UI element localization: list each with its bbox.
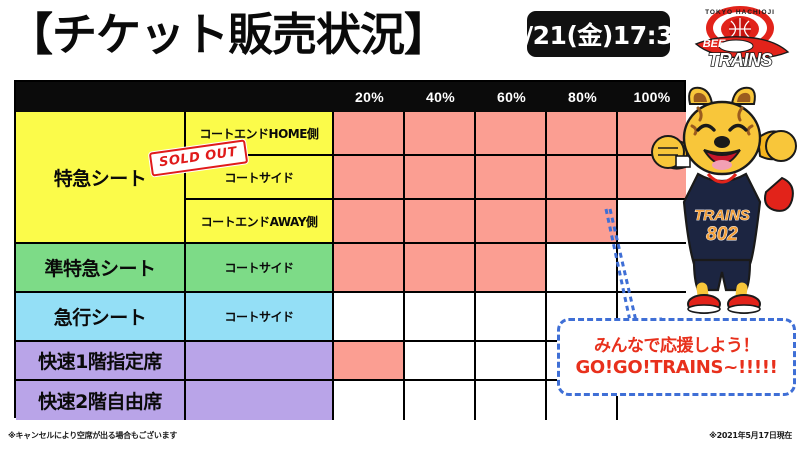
row-category-label: 快速1階指定席: [38, 347, 162, 374]
percent-header: 20%: [334, 82, 405, 112]
bar-cell-40: [405, 156, 476, 200]
bubble-line-2: GO!GO!TRAINS~!!!!!: [575, 357, 777, 379]
bar-cell-40: [405, 381, 476, 420]
footer-note-right: ※2021年5月17日現在: [709, 430, 792, 441]
bar-cell-60: [476, 112, 547, 156]
percent-header: 40%: [405, 82, 476, 112]
bar-cell-40: [405, 342, 476, 381]
bar-cell-60: [476, 342, 547, 381]
bar-cell-80: [547, 112, 618, 156]
bar-cell-60: [476, 200, 547, 244]
bar-cell-60: [476, 156, 547, 200]
svg-text:TOKYO HACHIOJI: TOKYO HACHIOJI: [705, 9, 775, 16]
bar-cell-60: [476, 381, 547, 420]
speech-bubble: みんなで応援しよう！ GO!GO!TRAINS~!!!!!: [557, 318, 796, 396]
table-row: 準特急シート コートサイド: [16, 244, 684, 293]
bar-cell-20: [334, 293, 405, 342]
svg-text:BEE: BEE: [703, 38, 726, 50]
row-category: 準特急シート: [16, 244, 186, 293]
bar-cell-60: [476, 293, 547, 342]
svg-text:TRAINS: TRAINS: [708, 50, 772, 70]
bubble-line-1: みんなで応援しよう！: [594, 335, 759, 357]
row-category: 快速2階自由席: [16, 381, 186, 420]
bar-cell-60: [476, 244, 547, 293]
bar-cell-40: [405, 200, 476, 244]
table-header-row: 20% 40% 60% 80% 100%: [16, 82, 684, 112]
row-category-label: 快速2階自由席: [38, 387, 162, 414]
row-category: 急行シート: [16, 293, 186, 342]
bar-cell-20: [334, 200, 405, 244]
mascot-character: TRAINS 802: [642, 82, 800, 314]
percent-header: 60%: [476, 82, 547, 112]
table-row: コートエンドAWAY側: [16, 200, 684, 244]
bar-cell-80: [547, 156, 618, 200]
bar-cell-40: [405, 293, 476, 342]
table-row: コートサイド: [16, 156, 684, 200]
row-subcategory: [186, 381, 334, 420]
bar-cell-20: [334, 244, 405, 293]
poster-canvas: 【チケット販売状況】 5/21(金)17:30 TOKYO HACHIOJI B…: [0, 0, 800, 450]
bar-cell-20: [334, 381, 405, 420]
percent-header: 80%: [547, 82, 618, 112]
mascot-icon: TRAINS 802: [642, 82, 800, 314]
row-subcategory: コートサイド: [186, 293, 334, 342]
date-badge: 5/21(金)17:30: [527, 11, 670, 57]
bar-cell-40: [405, 244, 476, 293]
row-subcategory: コートエンドAWAY側: [186, 200, 334, 244]
svg-text:802: 802: [706, 224, 738, 245]
row-category: 快速1階指定席: [16, 342, 186, 381]
footer-note-left: ※キャンセルにより空席が出る場合もございます: [8, 430, 177, 441]
page-title: 【チケット販売状況】: [8, 6, 448, 64]
row-category-label: 準特急シート: [44, 254, 155, 281]
svg-text:TRAINS: TRAINS: [694, 207, 750, 224]
row-category-label: 急行シート: [54, 303, 147, 330]
team-logo-icon: TOKYO HACHIOJI BEE TRAINS: [684, 2, 796, 70]
row-subcategory: [186, 342, 334, 381]
row-subcategory: コートサイド: [186, 244, 334, 293]
bar-cell-20: [334, 342, 405, 381]
bar-cell-20: [334, 112, 405, 156]
bar-cell-40: [405, 112, 476, 156]
table-row: 特急シート コートエンドHOME側: [16, 112, 684, 156]
bar-cell-20: [334, 156, 405, 200]
team-logo: TOKYO HACHIOJI BEE TRAINS: [684, 2, 796, 70]
